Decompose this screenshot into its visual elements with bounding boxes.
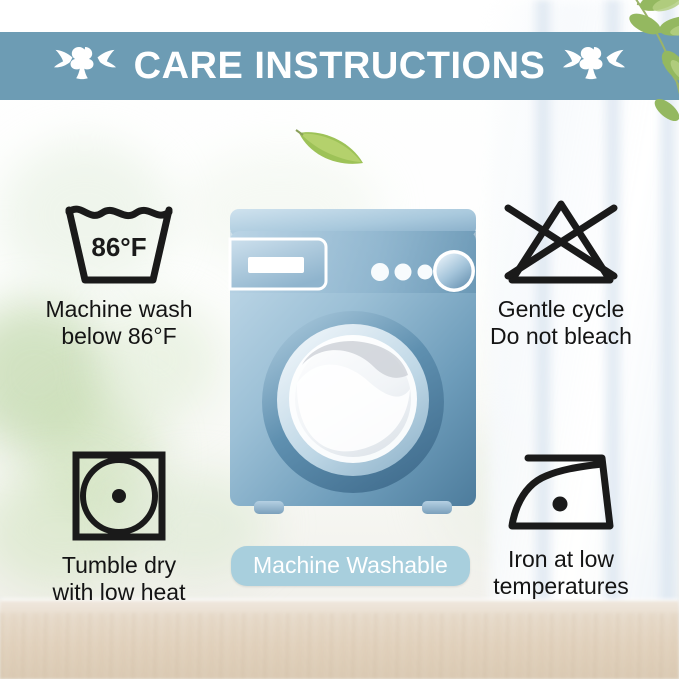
iron-low-icon xyxy=(498,448,624,538)
indicator-light-3[interactable] xyxy=(418,265,433,280)
tumble-dry-low-icon xyxy=(69,448,169,544)
header-banner: CARE INSTRUCTIONS xyxy=(0,32,679,100)
machine-washable-badge: Machine Washable xyxy=(231,546,470,586)
wash-tub-icon: 86°F xyxy=(61,196,177,288)
page-title: CARE INSTRUCTIONS xyxy=(134,45,546,88)
detergent-drawer-handle[interactable] xyxy=(248,257,304,273)
iron-heat-dot xyxy=(553,497,568,512)
instruction-caption-iron-low: Iron at low temperatures xyxy=(450,546,672,599)
do-not-bleach-triangle-icon xyxy=(500,196,622,288)
instruction-caption-machine-wash: Machine wash below 86°F xyxy=(8,296,230,349)
indicator-light-2[interactable] xyxy=(395,264,412,281)
fleur-de-lis-left-icon xyxy=(54,43,116,89)
fleur-de-lis-right-icon xyxy=(563,43,625,89)
wash-temperature-value: 86°F xyxy=(91,232,146,262)
washing-machine-illustration xyxy=(222,205,484,535)
instruction-gentle-bleach: Gentle cycle Do not bleach xyxy=(450,196,672,349)
instruction-tumble-dry: Tumble dry with low heat xyxy=(8,448,230,605)
instruction-iron-low: Iron at low temperatures xyxy=(450,448,672,599)
instruction-caption-gentle-bleach: Gentle cycle Do not bleach xyxy=(450,296,672,349)
machine-foot-left xyxy=(254,501,284,514)
machine-foot-right xyxy=(422,501,452,514)
instruction-caption-tumble-dry: Tumble dry with low heat xyxy=(8,552,230,605)
instruction-machine-wash: 86°F Machine wash below 86°F xyxy=(8,196,230,349)
tumble-dry-heat-dot xyxy=(112,489,126,503)
care-instructions-infographic: CARE INSTRUCTIONS xyxy=(0,0,679,679)
indicator-light-1[interactable] xyxy=(371,263,389,281)
wood-grain-texture xyxy=(0,613,679,679)
